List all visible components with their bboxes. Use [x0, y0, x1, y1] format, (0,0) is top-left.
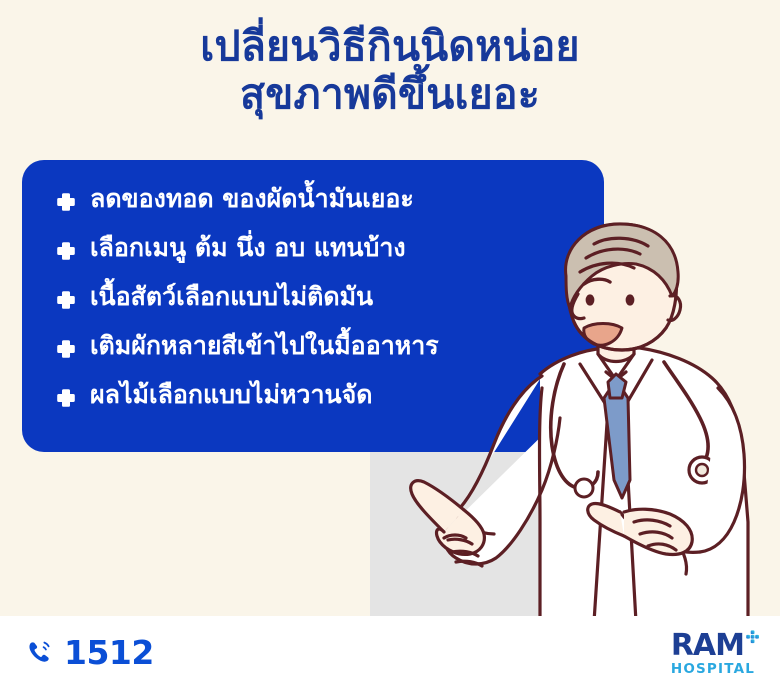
footer-bar: 1512 RAM	[0, 616, 780, 696]
tips-list: ลดของทอด ของผัดน้ำมันเยอะ เลือกเมนู ต้ม …	[56, 182, 590, 427]
phone-call-icon	[26, 639, 54, 667]
list-item: เติมผักหลายสีเข้าไปในมื้ออาหาร	[56, 329, 590, 378]
page-title: เปลี่ยนวิธีกินนิดหน่อย สุขภาพดีขึ้นเยอะ	[0, 24, 780, 117]
hotline-block[interactable]: 1512	[26, 636, 154, 669]
list-item-label: เลือกเมนู ต้ม นึ่ง อบ แทนบ้าง	[90, 231, 406, 265]
background-panel	[370, 452, 700, 616]
list-item-label: ลดของทอด ของผัดน้ำมันเยอะ	[90, 182, 414, 216]
logo-wordmark-row: RAM	[671, 632, 760, 661]
list-item: ลดของทอด ของผัดน้ำมันเยอะ	[56, 182, 590, 231]
tips-card: ลดของทอด ของผัดน้ำมันเยอะ เลือกเมนู ต้ม …	[22, 160, 604, 452]
headline-line-2: สุขภาพดีขึ้นเยอะ	[0, 72, 780, 116]
list-item: เลือกเมนู ต้ม นึ่ง อบ แทนบ้าง	[56, 231, 590, 280]
logo-subtitle: HOSPITAL	[671, 663, 760, 677]
plus-cross-icon	[56, 339, 76, 359]
headline-line-1: เปลี่ยนวิธีกินนิดหน่อย	[0, 24, 780, 68]
ram-hospital-logo: RAM	[671, 632, 760, 676]
list-item-label: ผลไม้เลือกแบบไม่หวานจัด	[90, 378, 372, 412]
plus-cross-icon	[56, 388, 76, 408]
infographic-canvas: เปลี่ยนวิธีกินนิดหน่อย สุขภาพดีขึ้นเยอะ …	[0, 0, 780, 696]
hotline-number: 1512	[64, 636, 154, 669]
plus-cross-icon	[56, 192, 76, 212]
list-item-label: เนื้อสัตว์เลือกแบบไม่ติดมัน	[90, 280, 373, 314]
list-item: ผลไม้เลือกแบบไม่หวานจัด	[56, 378, 590, 427]
list-item-label: เติมผักหลายสีเข้าไปในมื้ออาหาร	[90, 329, 439, 363]
plus-cross-icon	[56, 241, 76, 261]
list-item: เนื้อสัตว์เลือกแบบไม่ติดมัน	[56, 280, 590, 329]
plus-cross-icon	[56, 290, 76, 310]
logo-name: RAM	[671, 632, 744, 661]
medical-cross-icon	[744, 632, 760, 645]
